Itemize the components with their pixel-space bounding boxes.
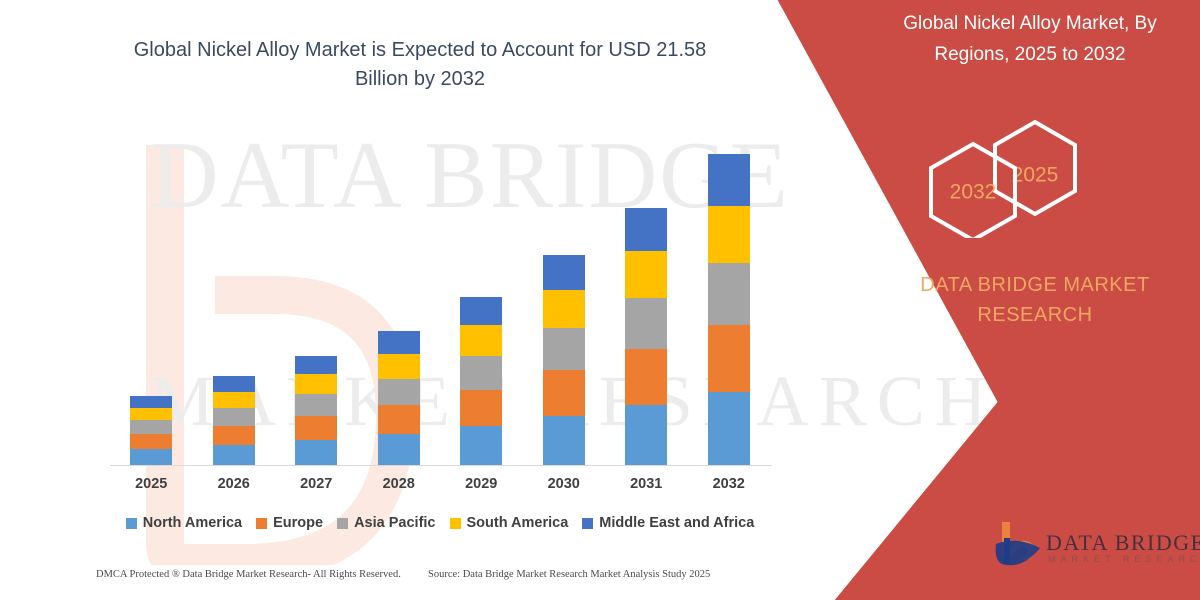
- legend-swatch: [256, 518, 267, 529]
- bar-segment: [460, 356, 502, 389]
- brand-line-2: RESEARCH: [977, 304, 1092, 326]
- x-tick-label: 2031: [605, 476, 687, 492]
- logo-subtitle: MARKET RESEARCH: [1048, 554, 1200, 564]
- bar-segment: [625, 349, 667, 405]
- bar-segment: [543, 416, 585, 466]
- footer-copyright: DMCA Protected ® Data Bridge Market Rese…: [96, 569, 401, 580]
- bar-segment: [460, 390, 502, 427]
- bar-segment: [460, 325, 502, 356]
- x-tick-label: 2032: [688, 476, 770, 492]
- bar-segment: [213, 376, 255, 391]
- bar-segment: [130, 434, 172, 449]
- legend-item[interactable]: Middle East and Africa: [582, 515, 754, 531]
- legend-label: North America: [143, 515, 242, 531]
- legend-label: Middle East and Africa: [599, 515, 754, 531]
- bar-column: [378, 331, 420, 466]
- bar-segment: [213, 426, 255, 445]
- stacked-bar-plot: [110, 140, 770, 466]
- chart-legend: North AmericaEuropeAsia PacificSouth Ame…: [110, 512, 770, 534]
- bar-segment: [295, 394, 337, 416]
- footer-source: Source: Data Bridge Market Research Mark…: [428, 569, 710, 580]
- bar-segment: [708, 263, 750, 325]
- bar-segment: [378, 331, 420, 354]
- bar-segment: [130, 396, 172, 408]
- panel-brand-text: DATA BRIDGE MARKET RESEARCH: [890, 270, 1180, 330]
- x-tick-label: 2027: [275, 476, 357, 492]
- bar-segment: [295, 356, 337, 374]
- legend-swatch: [450, 518, 461, 529]
- bar-segment: [460, 426, 502, 466]
- bar-segment: [130, 449, 172, 466]
- bar-segment: [295, 374, 337, 394]
- bar-segment: [130, 420, 172, 434]
- bar-column: [460, 297, 502, 466]
- x-tick-label: 2025: [110, 476, 192, 492]
- infographic-canvas: DATA BRIDGE MARKET RESEARCH Global Nicke…: [0, 0, 1200, 600]
- hexagon-badges: 2025 2032: [915, 118, 1115, 238]
- legend-label: Asia Pacific: [354, 515, 435, 531]
- chart-title: Global Nickel Alloy Market is Expected t…: [110, 36, 730, 94]
- legend-item[interactable]: Asia Pacific: [337, 515, 435, 531]
- x-tick-label: 2028: [358, 476, 440, 492]
- bar-segment: [708, 325, 750, 392]
- legend-label: Europe: [273, 515, 323, 531]
- legend-item[interactable]: North America: [126, 515, 242, 531]
- hexagon-2032-label: 2032: [950, 181, 997, 204]
- hexagon-2025-label: 2025: [1012, 164, 1059, 187]
- bar-segment: [543, 290, 585, 329]
- bar-segment: [460, 297, 502, 325]
- bar-segment: [213, 445, 255, 466]
- bar-segment: [543, 370, 585, 416]
- bar-segment: [708, 206, 750, 263]
- bar-column: [130, 396, 172, 466]
- bar-column: [295, 356, 337, 466]
- bar-segment: [130, 408, 172, 421]
- bar-column: [708, 154, 750, 466]
- x-tick-label: 2026: [193, 476, 275, 492]
- x-tick-label: 2029: [440, 476, 522, 492]
- bar-segment: [295, 440, 337, 466]
- bar-segment: [378, 354, 420, 378]
- bar-segment: [543, 328, 585, 370]
- x-tick-label: 2030: [523, 476, 605, 492]
- x-axis-tick-labels: 20252026202720282029203020312032: [110, 472, 770, 498]
- bar-segment: [625, 405, 667, 466]
- panel-title: Global Nickel Alloy Market, By Regions, …: [880, 8, 1180, 70]
- legend-swatch: [337, 518, 348, 529]
- bar-column: [213, 376, 255, 466]
- legend-item[interactable]: South America: [450, 515, 569, 531]
- bar-segment: [378, 379, 420, 406]
- bar-segment: [708, 392, 750, 466]
- bar-segment: [625, 208, 667, 251]
- logo-title: DATA BRIDGE: [1046, 530, 1200, 556]
- bar-segment: [378, 434, 420, 466]
- x-axis-line: [110, 465, 772, 466]
- bar-segment: [213, 408, 255, 426]
- bar-segment: [295, 416, 337, 440]
- bar-column: [625, 208, 667, 466]
- bar-segment: [213, 392, 255, 408]
- legend-swatch: [582, 518, 593, 529]
- chart-region: Global Nickel Alloy Market is Expected t…: [0, 0, 790, 600]
- legend-label: South America: [467, 515, 569, 531]
- bar-segment: [625, 298, 667, 349]
- brand-line-1: DATA BRIDGE MARKET: [920, 274, 1149, 296]
- bar-segment: [625, 251, 667, 298]
- bar-segment: [708, 154, 750, 206]
- legend-swatch: [126, 518, 137, 529]
- data-bridge-logo: DATA BRIDGE MARKET RESEARCH: [988, 518, 1188, 580]
- legend-item[interactable]: Europe: [256, 515, 323, 531]
- bar-segment: [543, 255, 585, 290]
- logo-mark-icon: [988, 518, 1044, 576]
- bar-column: [543, 254, 585, 466]
- bar-segment: [378, 405, 420, 434]
